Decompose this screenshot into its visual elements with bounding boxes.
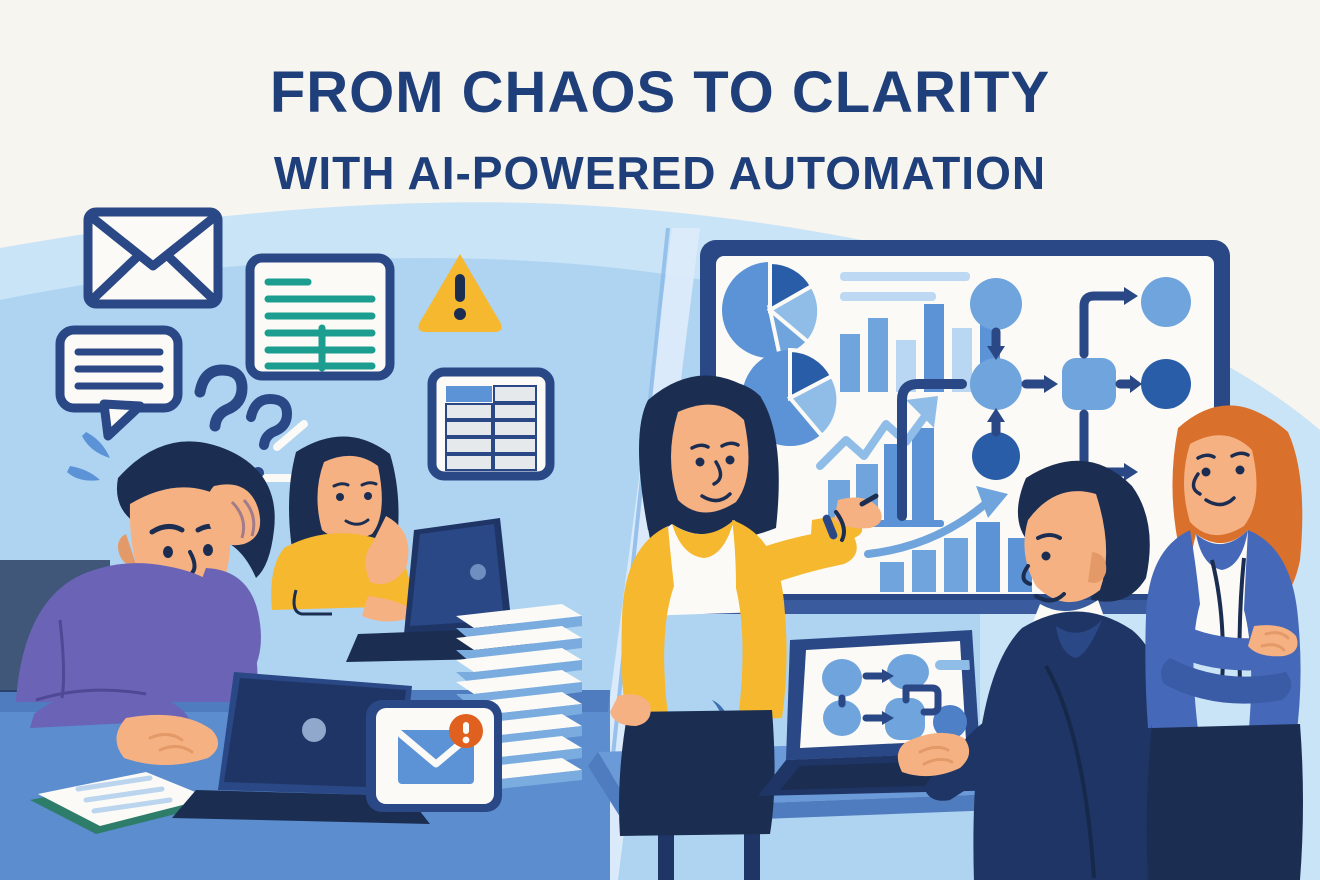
board-header-line-1 (840, 272, 970, 281)
board-pie-1 (722, 262, 819, 358)
illustration-stage: FROM CHAOS TO CLARITY WITH AI-POWERED AU… (0, 0, 1320, 880)
headline-line1: FROM CHAOS TO CLARITY (270, 60, 1050, 125)
spreadsheet-icon (432, 372, 550, 476)
tablet-email-alert[interactable] (366, 700, 502, 812)
headline-line2: WITH AI-POWERED AUTOMATION (274, 147, 1046, 199)
document-icon (250, 258, 390, 376)
envelope-icon (88, 212, 218, 304)
from-chaos-to-clarity-illustration: FROM CHAOS TO CLARITY WITH AI-POWERED AU… (0, 0, 1320, 880)
board-header-line-2 (840, 292, 936, 301)
